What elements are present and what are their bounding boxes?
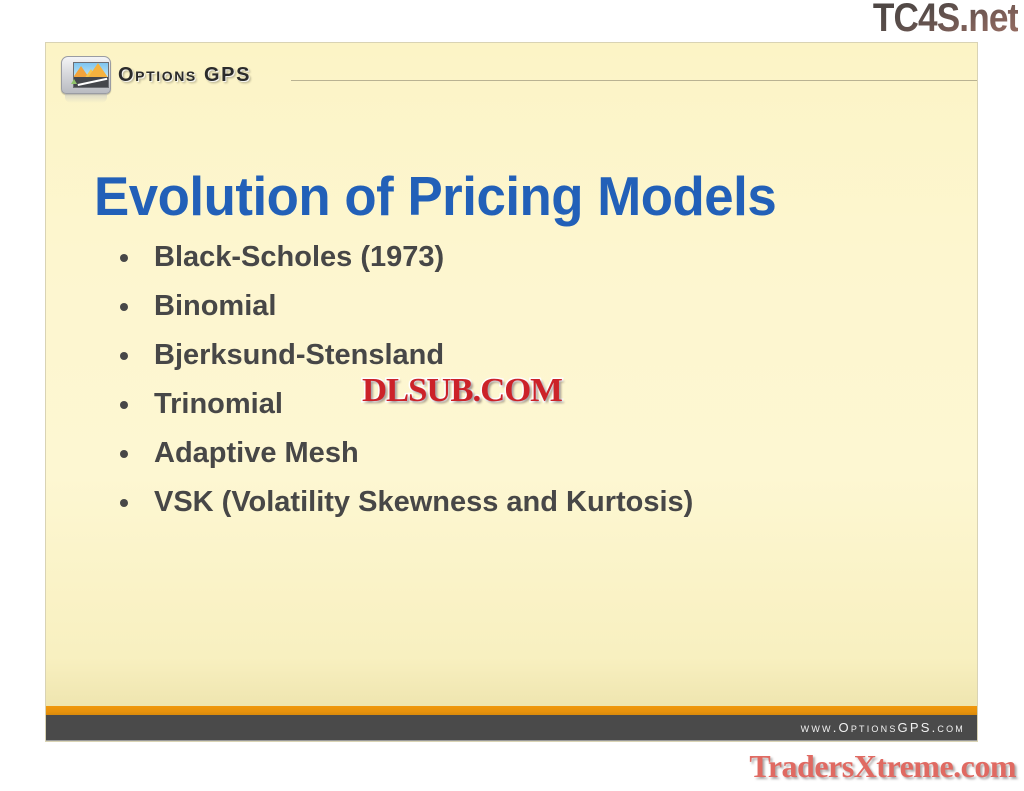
list-item-label: Bjerksund-Stensland [154, 339, 444, 371]
list-item-label: Trinomial [154, 388, 283, 420]
list-item: Black-Scholes (1973) [108, 233, 948, 282]
dlsub-watermark: DLSUB.COM [362, 374, 562, 408]
screen-road-icon [74, 77, 108, 87]
header-divider-rule [291, 80, 977, 81]
tradersxtreme-watermark: TradersXtreme.com [749, 749, 1016, 783]
gps-device-icon [57, 56, 115, 104]
bullet-dot-icon [120, 303, 128, 311]
gps-device-screen [73, 62, 109, 88]
list-item: Binomial [108, 282, 948, 331]
footer-accent-bar [46, 706, 977, 715]
gps-device-led-icon [71, 79, 77, 84]
bullet-dot-icon [120, 499, 128, 507]
bullet-dot-icon [120, 352, 128, 360]
brand-wordmark: Options GPS [118, 64, 251, 87]
list-item: Adaptive Mesh [108, 429, 948, 478]
bullet-dot-icon [120, 254, 128, 262]
list-item: VSK (Volatility Skewness and Kurtosis) [108, 478, 948, 527]
list-item-label: Binomial [154, 290, 276, 322]
slide-footer: www.OptionsGPS.com [46, 715, 977, 741]
tc4s-watermark: TC4S.net [872, 0, 1018, 38]
list-item-label: VSK (Volatility Skewness and Kurtosis) [154, 486, 693, 518]
bullet-dot-icon [120, 450, 128, 458]
list-item-label: Adaptive Mesh [154, 437, 359, 469]
page-title: Evolution of Pricing Models [94, 165, 920, 227]
list-item-label: Black-Scholes (1973) [154, 241, 444, 273]
gps-device-body [61, 56, 111, 94]
bullet-dot-icon [120, 401, 128, 409]
presentation-slide: Options GPS Evolution of Pricing Models … [45, 42, 978, 742]
gps-device-reflection [65, 94, 107, 103]
footer-url-label: www.OptionsGPS.com [801, 720, 965, 735]
slide-header: Options GPS [46, 43, 977, 101]
